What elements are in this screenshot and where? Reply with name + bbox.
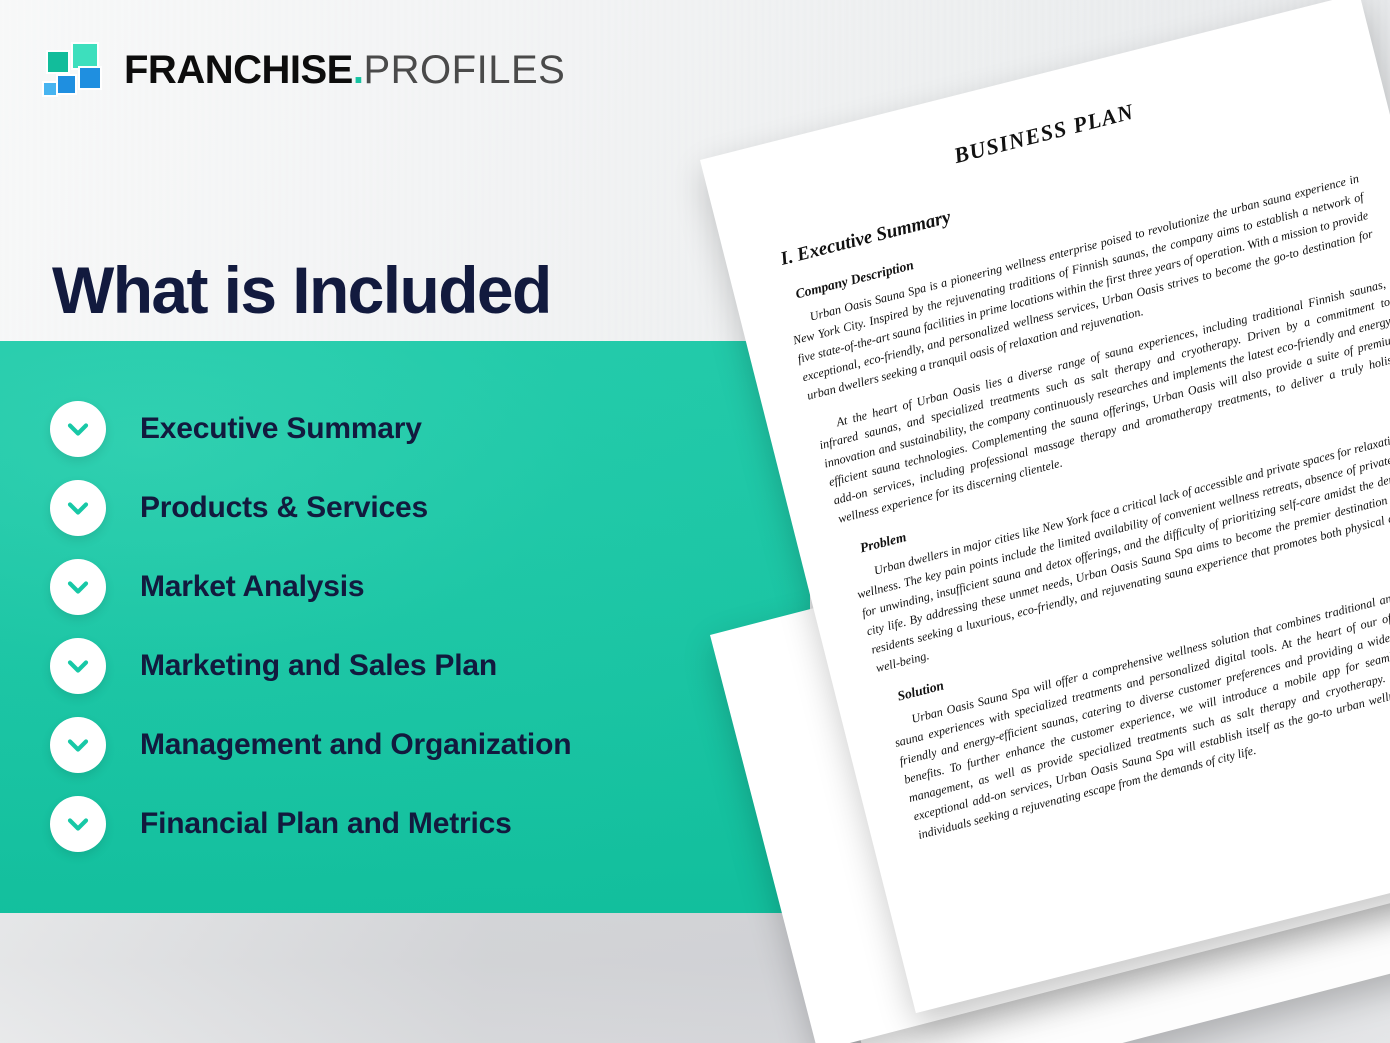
brand-name-dot: . [353, 50, 364, 90]
list-item-label: Financial Plan and Metrics [140, 807, 512, 841]
chevron-down-icon[interactable] [50, 796, 106, 852]
document-stack: destination for individuals seeking a re… [690, 130, 1390, 1030]
brand-name-bold: FRANCHISE [124, 50, 353, 90]
chevron-down-icon[interactable] [50, 717, 106, 773]
squares-mark-icon [44, 44, 106, 96]
list-item[interactable]: Market Analysis [50, 559, 364, 615]
list-item[interactable]: Financial Plan and Metrics [50, 796, 512, 852]
chevron-down-icon[interactable] [50, 401, 106, 457]
slide-canvas: FRANCHISE.PROFILES What is Included Exec… [0, 0, 1390, 1043]
list-item[interactable]: Marketing and Sales Plan [50, 638, 497, 694]
list-item[interactable]: Management and Organization [50, 717, 571, 773]
list-item[interactable]: Products & Services [50, 480, 428, 536]
chevron-down-icon[interactable] [50, 638, 106, 694]
brand-wordmark: FRANCHISE.PROFILES [124, 50, 565, 90]
page-title: What is Included [52, 256, 551, 325]
chevron-down-icon[interactable] [50, 559, 106, 615]
list-item-label: Products & Services [140, 491, 428, 525]
list-item-label: Market Analysis [140, 570, 364, 604]
list-item-label: Executive Summary [140, 412, 422, 446]
list-item[interactable]: Executive Summary [50, 401, 422, 457]
list-item-label: Management and Organization [140, 728, 571, 762]
list-item-label: Marketing and Sales Plan [140, 649, 497, 683]
brand-logo[interactable]: FRANCHISE.PROFILES [44, 44, 565, 96]
chevron-down-icon[interactable] [50, 480, 106, 536]
brand-name-light: PROFILES [363, 50, 565, 90]
